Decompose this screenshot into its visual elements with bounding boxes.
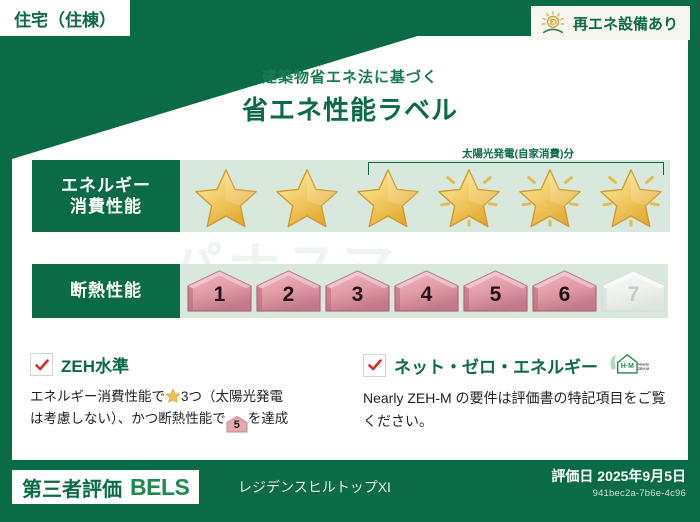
title-main: 省エネ性能ラベル <box>0 90 700 127</box>
footer-meta: 評価日 2025年9月5日 941bec2a-7b6e-4c96 <box>551 466 686 499</box>
net-zero-energy-block: ネット・ゼロ・エネルギー H·M Nearly ZEH-M Nearly ZEH… <box>363 352 679 432</box>
insulation-level-4: 4 <box>393 269 460 313</box>
insulation-levels-panel: 1 2 3 <box>180 264 668 318</box>
insulation-level-2: 2 <box>255 269 322 313</box>
energy-label-line1: エネルギー <box>61 175 151 196</box>
checkbox-checked-icon <box>363 354 386 377</box>
insulation-level-value: 3 <box>352 276 364 307</box>
star-1 <box>186 161 265 231</box>
bels-label: BELS <box>130 474 189 501</box>
insulation-level-value: 1 <box>214 276 226 307</box>
checkbox-checked-icon <box>30 353 53 376</box>
label-root: パナスマ 住宅（住棟） 再エネ設備あり 建築物 <box>0 0 700 522</box>
sun-solar-icon <box>539 10 567 36</box>
insulation-badge-inline: 5 <box>226 415 248 433</box>
document-id: 941bec2a-7b6e-4c96 <box>551 488 686 499</box>
solar-bracket <box>368 162 664 175</box>
insulation-level-value: 5 <box>490 276 502 307</box>
net-zero-energy-body: Nearly ZEH-M の要件は評価書の特記項目をご覧ください。 <box>363 387 679 432</box>
insulation-level-list: 1 2 3 <box>180 269 667 313</box>
svg-text:ZEH-M: ZEH-M <box>638 367 649 371</box>
insulation-performance-row: 断熱性能 1 <box>32 264 668 318</box>
svg-text:H·M: H·M <box>621 363 634 370</box>
insulation-level-value: 6 <box>559 276 571 307</box>
insulation-badge-inline-value: 5 <box>226 415 248 436</box>
insulation-level-6: 6 <box>531 269 598 313</box>
zeh-body-part2: 3つ（太陽光発電 <box>181 389 283 404</box>
insulation-level-3: 3 <box>324 269 391 313</box>
solar-note-label: 太陽光発電(自家消費)分 <box>368 146 668 162</box>
net-zero-energy-header: ネット・ゼロ・エネルギー H·M Nearly ZEH-M <box>363 352 679 378</box>
insulation-level-value: 7 <box>628 276 640 307</box>
nearly-zeh-m-logo-icon: H·M Nearly ZEH-M <box>608 352 650 378</box>
zeh-body-part1: エネルギー消費性能で <box>30 389 165 404</box>
zeh-standard-block: ZEH水準 エネルギー消費性能で3つ（太陽光発電は考慮しない）、かつ断熱性能で5… <box>30 352 346 433</box>
third-party-evaluation-label: 第三者評価 <box>22 473 122 502</box>
insulation-level-5: 5 <box>462 269 529 313</box>
zeh-standard-body: エネルギー消費性能で3つ（太陽光発電は考慮しない）、かつ断熱性能で5を達成 <box>30 386 346 433</box>
energy-stars-panel: 太陽光発電(自家消費)分 <box>180 160 670 232</box>
evaluation-date: 評価日 2025年9月5日 <box>551 466 686 486</box>
bels-evaluation-badge: 第三者評価 BELS <box>12 470 199 504</box>
insulation-level-value: 4 <box>421 276 433 307</box>
energy-performance-row: エネルギー 消費性能 太陽光発電(自家消費)分 <box>32 160 668 232</box>
evaluation-date-value: 2025年9月5日 <box>597 468 686 484</box>
evaluation-date-label: 評価日 <box>551 468 593 484</box>
footer: 第三者評価 BELS レジデンスヒルトップXI 評価日 2025年9月5日 94… <box>0 460 700 522</box>
insulation-performance-label: 断熱性能 <box>32 264 180 318</box>
title-subtitle: 建築物省エネ法に基づく <box>0 66 700 87</box>
insulation-level-7: 7 <box>600 269 667 313</box>
insulation-level-1: 1 <box>186 269 253 313</box>
energy-performance-label: エネルギー 消費性能 <box>32 160 180 232</box>
zeh-body-part3: は考慮しない）、かつ断熱性能で <box>30 411 226 426</box>
building-type-tag: 住宅（住棟） <box>0 0 130 36</box>
star-icon <box>165 388 181 404</box>
zeh-standard-title: ZEH水準 <box>61 352 129 377</box>
insulation-level-value: 2 <box>283 276 295 307</box>
renewable-badge-label: 再エネ設備あり <box>573 13 678 34</box>
zeh-standard-header: ZEH水準 <box>30 352 346 377</box>
zeh-body-part4: を達成 <box>248 411 289 426</box>
page-title: 建築物省エネ法に基づく 省エネ性能ラベル <box>0 66 700 127</box>
net-zero-energy-title: ネット・ゼロ・エネルギー <box>394 353 598 378</box>
energy-label-line2: 消費性能 <box>70 196 142 217</box>
star-2 <box>267 161 346 231</box>
renewable-equipment-badge: 再エネ設備あり <box>531 6 690 40</box>
insulation-label-text: 断熱性能 <box>70 280 142 301</box>
building-name: レジデンスヒルトップXI <box>238 470 391 504</box>
